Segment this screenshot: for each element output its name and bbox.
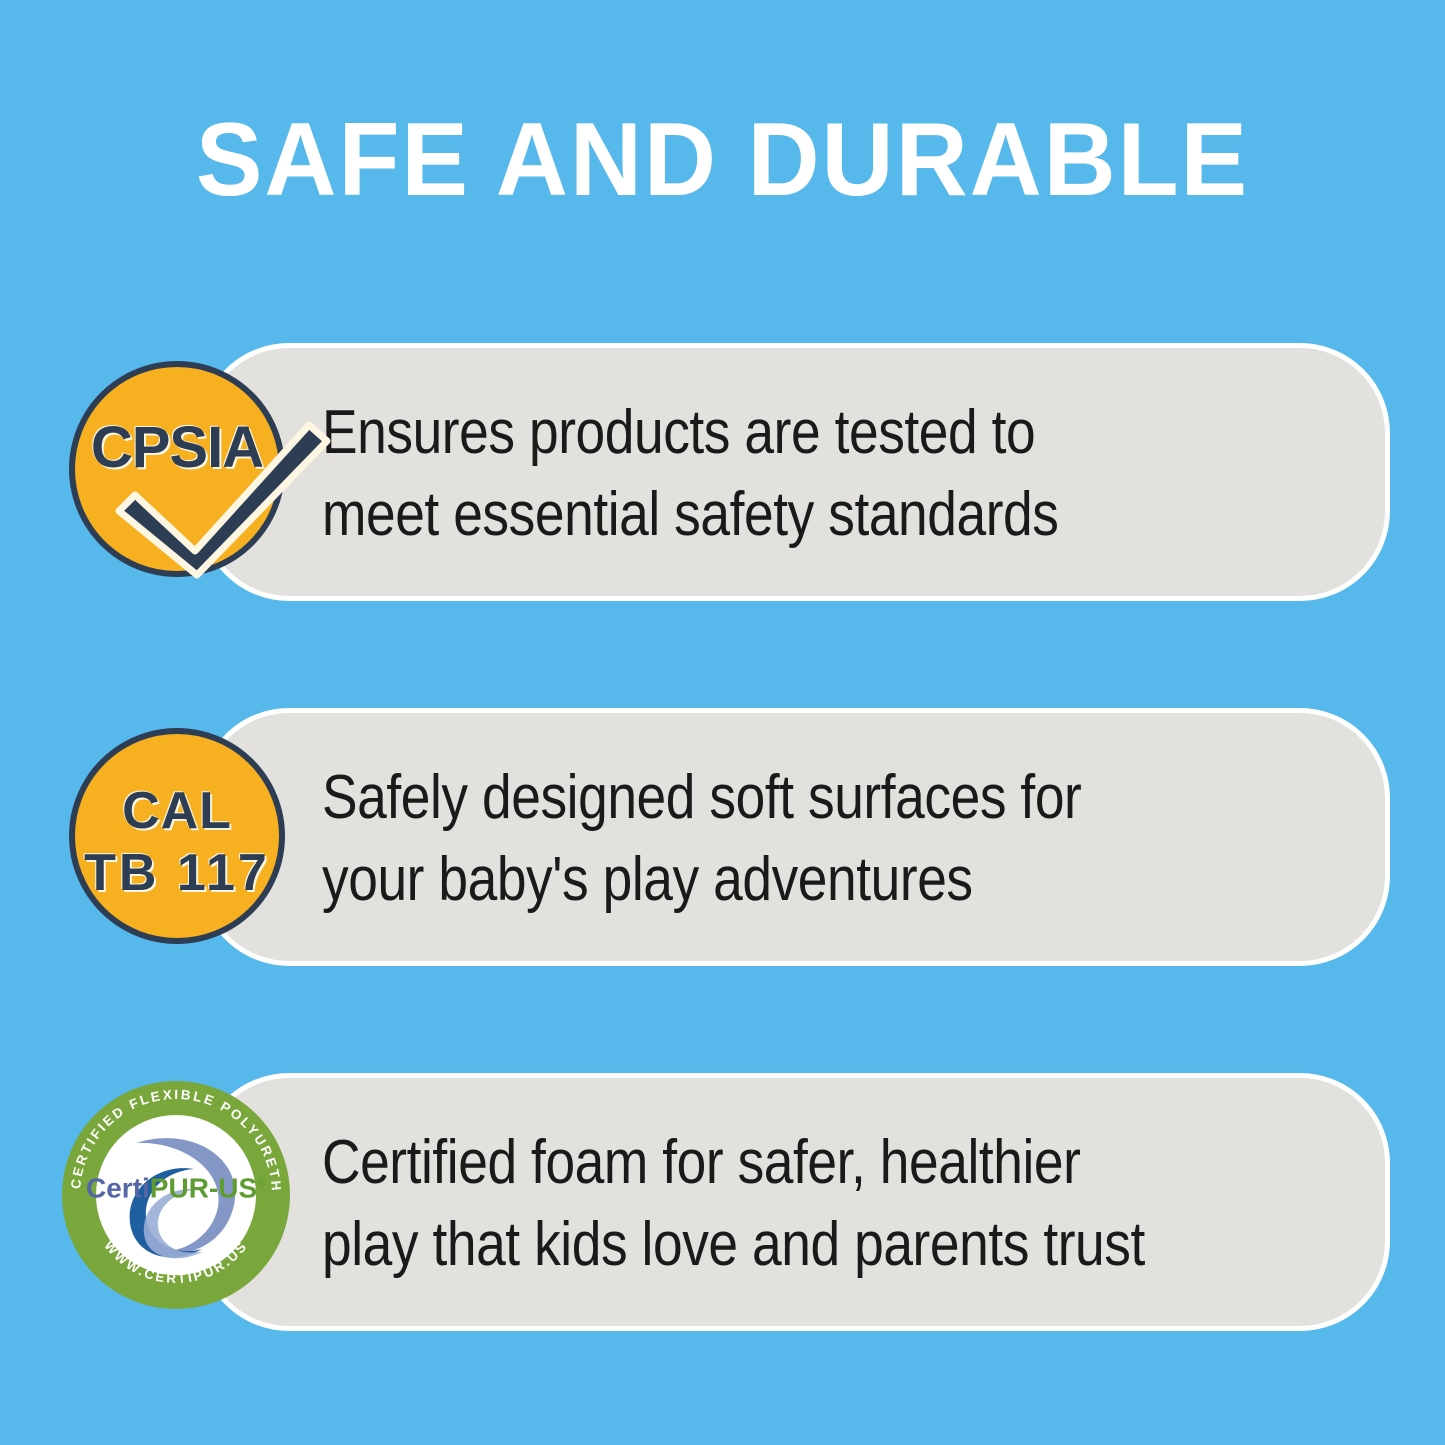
cpsia-label: CPSIA bbox=[75, 419, 279, 477]
feature-text-line-1: Safely designed soft surfaces for bbox=[322, 757, 1208, 839]
certipur-us-badge: CONTAINS CERTIFIED FLEXIBLE POLYURETHANE… bbox=[62, 1081, 290, 1309]
page-title: SAFE AND DURABLE bbox=[29, 108, 1416, 212]
certipur-wordmark: CertiPUR-US® bbox=[62, 1169, 290, 1202]
feature-text-line-2: meet essential safety standards bbox=[322, 474, 1208, 556]
cal-label-line-1: CAL bbox=[75, 780, 279, 842]
feature-text-line-1: Certified foam for safer, healthier bbox=[322, 1122, 1208, 1204]
badge-circle: CPSIA bbox=[69, 361, 285, 577]
feature-row-cal-tb-117: CAL TB 117 Safely designed soft surfaces… bbox=[0, 708, 1445, 970]
feature-text: Certified foam for safer, healthier play… bbox=[322, 1122, 1352, 1286]
certipur-registered-mark: ® bbox=[257, 1176, 266, 1190]
certipur-wordmark-part1: Certi bbox=[86, 1172, 150, 1203]
cal-tb-117-badge: CAL TB 117 bbox=[69, 728, 285, 944]
cpsia-badge: CPSIA bbox=[69, 361, 285, 577]
feature-row-cpsia: CPSIA Ensures products are tested to mee… bbox=[0, 343, 1445, 605]
feature-text: Ensures products are tested to meet esse… bbox=[322, 392, 1352, 556]
feature-text-line-2: play that kids love and parents trust bbox=[322, 1204, 1208, 1286]
feature-text: Safely designed soft surfaces for your b… bbox=[322, 757, 1352, 921]
feature-row-certipur-us: CONTAINS CERTIFIED FLEXIBLE POLYURETHANE… bbox=[0, 1073, 1445, 1335]
feature-text-line-2: your baby's play adventures bbox=[322, 839, 1208, 921]
feature-text-line-1: Ensures products are tested to bbox=[322, 392, 1208, 474]
certipur-seal: CONTAINS CERTIFIED FLEXIBLE POLYURETHANE… bbox=[62, 1081, 290, 1309]
badge-circle: CAL TB 117 bbox=[69, 728, 285, 944]
cal-label-line-2: TB 117 bbox=[75, 842, 279, 904]
cal-tb-117-label: CAL TB 117 bbox=[75, 780, 279, 904]
certipur-wordmark-part2: PUR-US bbox=[150, 1172, 257, 1203]
